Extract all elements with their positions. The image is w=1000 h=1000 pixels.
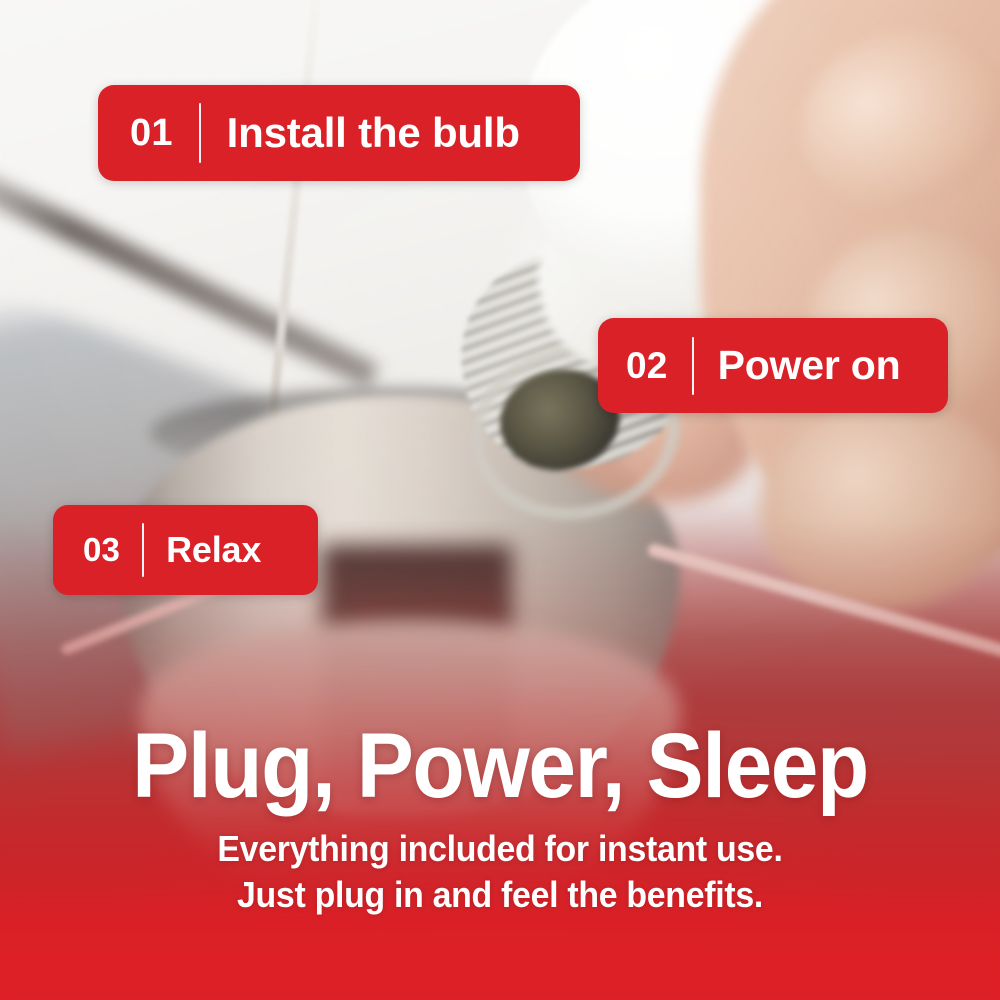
- bottom-text-block: Plug, Power, Sleep Everything included f…: [0, 720, 1000, 918]
- step-badge-02: 02 Power on: [598, 318, 948, 413]
- step-badge-01-label: Install the bulb: [227, 109, 520, 157]
- step-badge-03-number: 03: [83, 531, 120, 569]
- step-badge-02-divider: [692, 337, 694, 395]
- step-badge-01: 01 Install the bulb: [98, 85, 580, 181]
- step-badge-03-label: Relax: [166, 529, 261, 571]
- step-badge-02-label: Power on: [718, 342, 901, 389]
- subheadline-line-1: Everything included for instant use.: [30, 826, 970, 872]
- step-badge-01-divider: [199, 103, 201, 163]
- subheadline: Everything included for instant use. Jus…: [30, 826, 970, 918]
- subheadline-line-2: Just plug in and feel the benefits.: [30, 872, 970, 918]
- step-badge-02-number: 02: [626, 345, 668, 387]
- step-badge-03: 03 Relax: [53, 505, 318, 595]
- step-badge-01-number: 01: [130, 112, 173, 155]
- product-infographic: 01 Install the bulb 02 Power on 03 Relax…: [0, 0, 1000, 1000]
- step-badge-03-divider: [142, 523, 144, 577]
- headline: Plug, Power, Sleep: [35, 720, 965, 812]
